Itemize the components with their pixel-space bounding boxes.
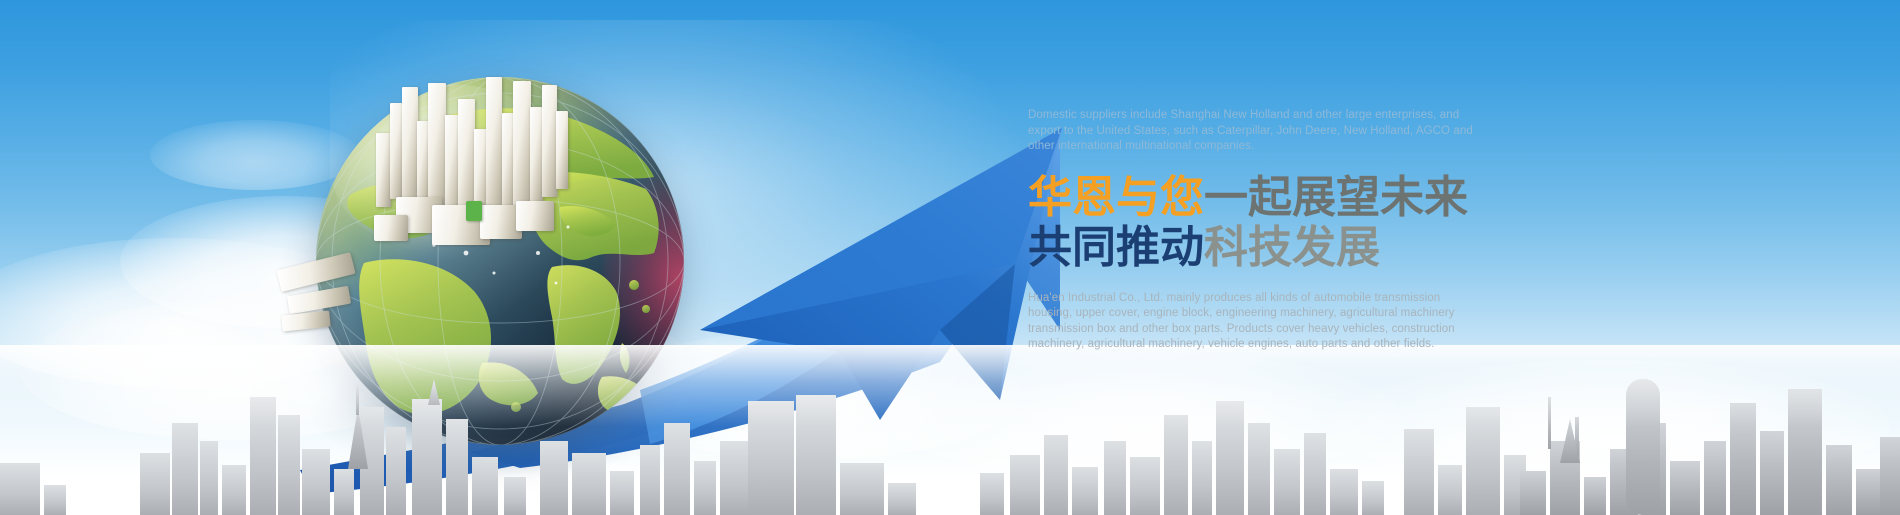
- building-accent-panel: [466, 201, 482, 221]
- building: [513, 81, 531, 209]
- building: [376, 133, 391, 207]
- building: [445, 115, 459, 219]
- headline-line-1-highlight: 华恩与您: [1028, 173, 1204, 222]
- intro-paragraph: Domestic suppliers include Shanghai New …: [1028, 108, 1480, 155]
- building: [428, 83, 446, 215]
- skyscrapers-on-globe: [370, 51, 600, 261]
- headline-line-2-highlight: 共同推动: [1028, 223, 1204, 272]
- headline-line-1-rest: 一起展望未来: [1204, 173, 1468, 222]
- promo-banner: Domestic suppliers include Shanghai New …: [0, 0, 1900, 515]
- headline-line-2-rest: 科技发展: [1204, 223, 1380, 272]
- building: [542, 85, 557, 197]
- headline-line-1: 华恩与您一起展望未来: [1028, 173, 1480, 223]
- building: [516, 201, 554, 231]
- world-globe: [300, 55, 700, 455]
- headline-line-2: 共同推动科技发展: [1028, 223, 1480, 273]
- building: [287, 286, 351, 314]
- building: [556, 111, 568, 189]
- skyscrapers-globe-left: [278, 235, 398, 335]
- building: [402, 87, 418, 203]
- company-description-paragraph: Hua'en Industrial Co., Ltd. mainly produ…: [1028, 291, 1480, 353]
- marketing-copy: Domestic suppliers include Shanghai New …: [1028, 108, 1480, 353]
- building: [281, 311, 330, 332]
- building: [486, 77, 502, 217]
